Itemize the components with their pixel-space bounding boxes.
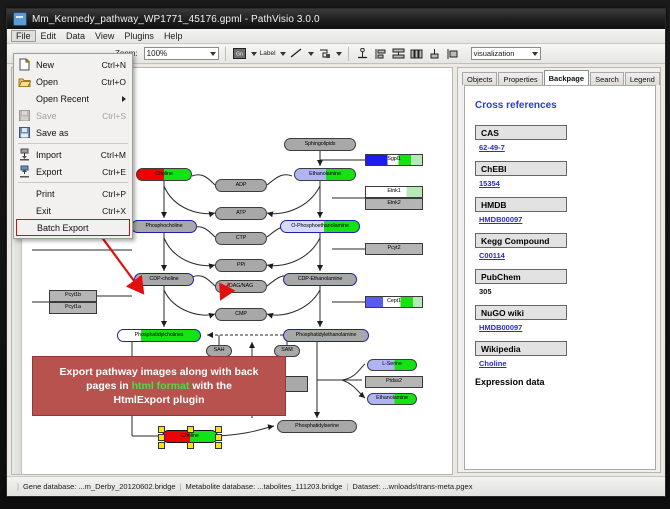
xref-value-wikipedia: Choline (479, 359, 647, 368)
menu-help[interactable]: Help (159, 30, 188, 42)
status-metabolite-database: Metabolite database: ...tabolites_111203… (186, 482, 343, 491)
node-ctp[interactable]: CTP (215, 232, 267, 245)
annotation-callout: Export pathway images along with back pa… (32, 356, 286, 416)
file-menu-save-label: Save (36, 111, 57, 121)
xref-link-hmdb[interactable]: HMDB00097 (479, 215, 522, 224)
node-label: Ptdss2 (386, 379, 402, 384)
xref-value-pubchem: 305 (479, 287, 647, 296)
interaction-dropdown-icon[interactable] (336, 52, 342, 56)
file-menu-divider-1 (18, 143, 128, 144)
window-title: Mm_Kennedy_pathway_WP1771_45176.gpml - P… (32, 14, 320, 25)
node-label: CDP-choline (149, 277, 178, 282)
node-label: Ethanolamine (376, 396, 408, 401)
line-tool-button[interactable] (289, 46, 304, 61)
node-label: Etnk1 (387, 189, 400, 194)
xref-label-cas: CAS (475, 125, 567, 140)
node-cmp[interactable]: CMP (215, 308, 267, 321)
node-gene-cept1[interactable]: Cept1 (365, 296, 423, 308)
node-label: ADP (236, 183, 247, 188)
node-label: Choline (155, 172, 173, 177)
file-menu-open-recent[interactable]: Open Recent (14, 90, 132, 107)
file-menu-open-recent-label: Open Recent (36, 94, 89, 104)
new-document-icon (18, 58, 31, 71)
node-label: Choline (181, 434, 199, 439)
node-phosphatidylcholines[interactable]: Phosphatidylcholines (117, 329, 201, 342)
node-label: ATP (236, 211, 246, 216)
node-label: Cept1 (387, 299, 401, 304)
node-phosphatidylethanolamine[interactable]: Phosphatidylethanolamine (283, 329, 369, 342)
export-icon (18, 165, 31, 178)
status-sep-2: | (346, 482, 348, 491)
file-menu-new-label: New (36, 60, 54, 70)
selection-handle-ne[interactable] (215, 426, 222, 433)
file-menu-open[interactable]: Open Ctrl+O (14, 73, 132, 90)
xref-label-kegg: Kegg Compound (475, 233, 567, 248)
file-menu-exit-accel: Ctrl+X (102, 206, 126, 216)
file-menu-new[interactable]: New Ctrl+N (14, 56, 132, 73)
visualization-value: visualization (474, 49, 515, 58)
node-label: Sgpl1 (387, 157, 400, 162)
menu-file[interactable]: File (11, 30, 36, 42)
xref-link-chebi[interactable]: 15354 (479, 179, 500, 188)
xref-link-kegg[interactable]: C00114 (479, 251, 505, 260)
line-dropdown-icon[interactable] (308, 52, 314, 56)
node-gene-pcyt1a[interactable]: Pcyt1a (49, 302, 97, 314)
xref-label-hmdb: HMDB (475, 197, 567, 212)
callout-line-3: HtmlExport plugin (114, 393, 205, 407)
selection-handle-e[interactable] (215, 434, 222, 441)
save-as-disk-icon (18, 126, 31, 139)
node-label: Ethanolamine (309, 172, 341, 177)
node-label: CMP (235, 312, 247, 317)
node-choline-top[interactable]: Choline (136, 168, 192, 181)
anchor-tool-button[interactable] (355, 46, 370, 61)
xref-value-cas: 62-49-7 (479, 143, 647, 152)
node-cdp-choline[interactable]: CDP-choline (134, 273, 194, 286)
xref-label-chebi: ChEBI (475, 161, 567, 176)
xref-link-cas[interactable]: 62-49-7 (479, 143, 505, 152)
node-label: CDP-Ethanolamine (298, 277, 343, 282)
datanode-dropdown-icon[interactable] (251, 52, 257, 56)
node-dag-nag[interactable]: DAG/NAG (215, 280, 267, 293)
node-label: SAM (281, 348, 292, 353)
node-adp[interactable]: ADP (215, 179, 267, 192)
menu-plugins[interactable]: Plugins (119, 30, 159, 42)
pathvisio-icon (13, 12, 27, 26)
xref-label-nugo: NuGO wiki (475, 305, 567, 320)
menu-view[interactable]: View (90, 30, 119, 42)
node-label: Pcyt1a (65, 305, 81, 310)
order-tool-button[interactable] (445, 46, 460, 61)
file-menu-export[interactable]: Export Ctrl+E (14, 163, 132, 180)
file-menu-print[interactable]: Print Ctrl+P (14, 185, 132, 202)
size-tool-button[interactable] (427, 46, 442, 61)
node-label: Phosphocholine (146, 224, 183, 229)
xref-link-wikipedia[interactable]: Choline (479, 359, 507, 368)
node-label: O-Phosphoethanolamine (291, 224, 349, 229)
file-menu-open-label: Open (36, 77, 58, 87)
xref-link-nugo[interactable]: HMDB00097 (479, 323, 522, 332)
status-sep-0: | (17, 482, 19, 491)
align-left-tool-button[interactable] (373, 46, 388, 61)
xref-label-wikipedia: Wikipedia (475, 341, 567, 356)
toolbar-separator (225, 47, 226, 61)
node-sphingolipids[interactable]: Sphingolipids (284, 138, 356, 151)
menu-edit[interactable]: Edit (36, 30, 62, 42)
callout-line-1: Export pathway images along with back (60, 365, 259, 379)
file-menu-divider-2 (18, 182, 128, 183)
status-dataset: Dataset: ...wnloads\trans-meta.pgex (352, 482, 472, 491)
file-menu-new-accel: Ctrl+N (102, 60, 126, 70)
tab-legend[interactable]: Legend (625, 72, 660, 85)
distribute-tool-button[interactable] (409, 46, 424, 61)
expression-data-heading: Expression data (475, 377, 647, 387)
selection-handle-sw[interactable] (158, 442, 165, 449)
node-gene-etnk1[interactable]: Etnk1 (365, 186, 423, 198)
import-icon (18, 148, 31, 161)
callout-line-2-a: pages in (86, 380, 132, 392)
node-ppi[interactable]: PPi (215, 259, 267, 272)
interaction-anchor-box[interactable] (284, 376, 308, 392)
node-label: Pcyt1b (65, 293, 81, 298)
file-menu-batch-export[interactable]: Batch Export (16, 219, 130, 236)
file-menu-exit-label: Exit (36, 206, 51, 216)
align-stack-tool-button[interactable] (391, 46, 406, 61)
file-menu-export-label: Export (36, 167, 62, 177)
node-ethanolamine-bottom[interactable]: Ethanolamine (367, 393, 417, 405)
side-panel-tabs: Objects Properties Backpage Search Legen… (462, 71, 658, 85)
pathvisio-window: Mm_Kennedy_pathway_WP1771_45176.gpml - P… (6, 8, 666, 497)
save-disk-icon (18, 109, 31, 122)
file-menu-import[interactable]: Import Ctrl+M (14, 146, 132, 163)
zoom-value: 100% (147, 49, 167, 58)
datanode-tool-button[interactable]: Gn (232, 46, 247, 61)
file-menu-import-label: Import (36, 150, 62, 160)
node-o-phosphoethanolamine[interactable]: O-Phosphoethanolamine (280, 220, 360, 233)
file-menu-open-accel: Ctrl+O (101, 77, 126, 87)
file-menu-save-as-label: Save as (36, 128, 69, 138)
node-gene-etnk2[interactable]: Etnk2 (365, 198, 423, 210)
tab-properties[interactable]: Properties (498, 72, 542, 85)
label-tool-button[interactable]: Label (260, 50, 276, 57)
xref-value-hmdb: HMDB00097 (479, 215, 647, 224)
xref-value-chebi: 15354 (479, 179, 647, 188)
selection-handle-se[interactable] (215, 442, 222, 449)
node-label: L-Serine (382, 362, 402, 367)
node-atp[interactable]: ATP (215, 207, 267, 220)
status-sep-1: | (180, 482, 182, 491)
node-label: Sphingolipids (305, 142, 336, 147)
label-dropdown-icon[interactable] (280, 52, 286, 56)
file-menu-export-accel: Ctrl+E (102, 167, 126, 177)
desktop-background: Mm_Kennedy_pathway_WP1771_45176.gpml - P… (0, 0, 670, 509)
xref-value-kegg: C00114 (479, 251, 647, 260)
node-label: Etnk2 (387, 201, 400, 206)
zoom-combo[interactable]: 100% (144, 47, 219, 60)
xref-value-nugo: HMDB00097 (479, 323, 647, 332)
file-menu-save-accel: Ctrl+S (102, 111, 126, 121)
callout-line-2: pages in html format with the (86, 379, 232, 393)
node-label: CTP (236, 236, 246, 241)
node-phosphocholine[interactable]: Phosphocholine (131, 220, 197, 233)
node-gene-ptdss2[interactable]: Ptdss2 (365, 376, 423, 388)
status-gene-database: Gene database: ...m_Derby_20120602.bridg… (23, 482, 176, 491)
chevron-down-icon-2 (532, 52, 538, 56)
file-menu-save: Save Ctrl+S (14, 107, 132, 124)
file-menu-dropdown: New Ctrl+N Open Ctrl+O Open Recent Save … (13, 53, 133, 239)
tab-search[interactable]: Search (590, 72, 624, 85)
status-bar: | Gene database: ...m_Derby_20120602.bri… (7, 476, 665, 496)
toolbar-separator-2 (348, 47, 349, 61)
node-gene-sgpl1[interactable]: Sgpl1 (365, 154, 423, 166)
selection-handle-n[interactable] (187, 426, 194, 433)
callout-line-2-b: with the (189, 380, 232, 392)
node-label: SAH (214, 348, 225, 353)
open-folder-icon (18, 75, 31, 88)
tab-objects[interactable]: Objects (462, 72, 497, 85)
node-phosphatidylserine[interactable]: Phosphatidylserine (277, 420, 357, 433)
selection-handle-nw[interactable] (158, 426, 165, 433)
backpage-content: Cross references CAS 62-49-7 ChEBI 15354… (464, 85, 656, 470)
file-menu-print-label: Print (36, 189, 55, 199)
node-gene-pcyt1b[interactable]: Pcyt1b (49, 290, 97, 302)
file-menu-batch-export-label: Batch Export (37, 223, 89, 233)
node-ethanolamine-top[interactable]: Ethanolamine (294, 168, 356, 181)
visualization-combo[interactable]: visualization (471, 47, 541, 60)
node-label: Pcyt2 (388, 246, 401, 251)
node-label: PPi (237, 263, 245, 268)
menu-data[interactable]: Data (61, 30, 90, 42)
file-menu-print-accel: Ctrl+P (102, 189, 126, 199)
node-cdp-ethanolamine[interactable]: CDP-Ethanolamine (283, 273, 357, 286)
node-label: Phosphatidylserine (295, 424, 339, 429)
submenu-arrow-icon (122, 96, 126, 102)
svg-text:Gn: Gn (236, 52, 243, 58)
file-menu-save-as[interactable]: Save as (14, 124, 132, 141)
node-label: Phosphatidylcholines (135, 333, 184, 338)
node-label: Phosphatidylethanolamine (296, 333, 357, 338)
window-titlebar: Mm_Kennedy_pathway_WP1771_45176.gpml - P… (7, 9, 665, 29)
backpage-heading: Cross references (475, 100, 647, 111)
node-label: DAG/NAG (229, 284, 253, 289)
selection-handle-w[interactable] (158, 434, 165, 441)
xref-label-pubchem: PubChem (475, 269, 567, 284)
callout-highlight: html format (132, 380, 190, 392)
selection-handle-s[interactable] (187, 442, 194, 449)
chevron-down-icon (210, 52, 216, 56)
file-menu-exit[interactable]: Exit Ctrl+X (14, 202, 132, 219)
menu-bar: File Edit Data View Plugins Help (7, 29, 665, 44)
interaction-tool-button[interactable] (317, 46, 332, 61)
side-panel: Objects Properties Backpage Search Legen… (457, 67, 661, 473)
node-gene-pcyt2[interactable]: Pcyt2 (365, 243, 423, 255)
tab-backpage[interactable]: Backpage (544, 70, 589, 85)
node-l-serine[interactable]: L-Serine (367, 359, 417, 371)
file-menu-import-accel: Ctrl+M (101, 150, 126, 160)
